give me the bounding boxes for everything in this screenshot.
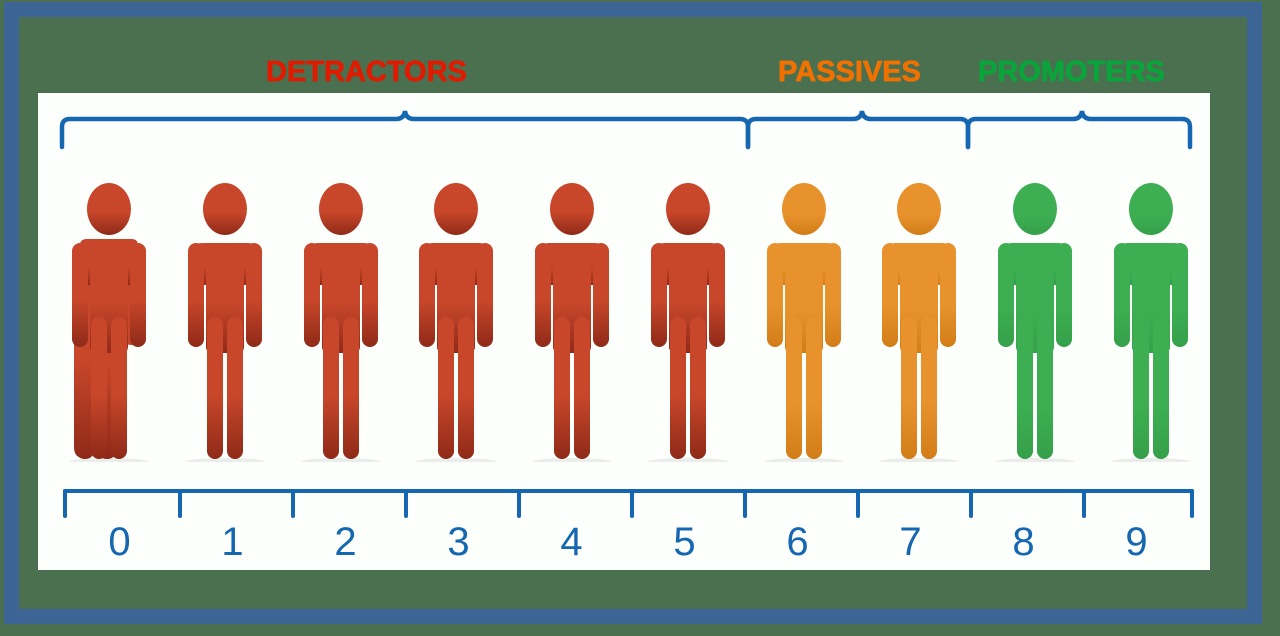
person-figure-5 [639,177,737,462]
person-figure-7 [870,177,968,462]
person-figure-9 [1102,177,1200,462]
person-figure-0 [60,177,158,462]
segment-label-passives: PASSIVES [778,58,921,87]
scale-tick-5: 5 [628,522,741,574]
scale-tick-1: 1 [176,522,289,574]
segment-label-detractors: DETRACTORS [266,58,467,87]
scale-tick-2: 2 [289,522,402,574]
person-figure-1 [176,177,274,462]
scale-tick-6: 6 [741,522,854,574]
scale-tick-9: 9 [1080,522,1193,574]
scale-tick-8: 8 [967,522,1080,574]
person-figure-8 [986,177,1084,462]
diagram-canvas: DETRACTORS PASSIVES PROMOTERS [0,0,1280,636]
person-figure-6 [755,177,853,462]
person-figure-4 [523,177,621,462]
person-figure-2 [292,177,390,462]
segment-label-promoters: PROMOTERS [978,58,1165,87]
scale-tick-3: 3 [402,522,515,574]
scale-tick-4: 4 [515,522,628,574]
scale-tick-labels: 0 1 2 3 4 5 6 7 8 9 [63,522,1193,574]
person-figure-3 [407,177,505,462]
scale-tick-0: 0 [63,522,176,574]
figures-row [60,172,1200,462]
scale-tick-7: 7 [854,522,967,574]
